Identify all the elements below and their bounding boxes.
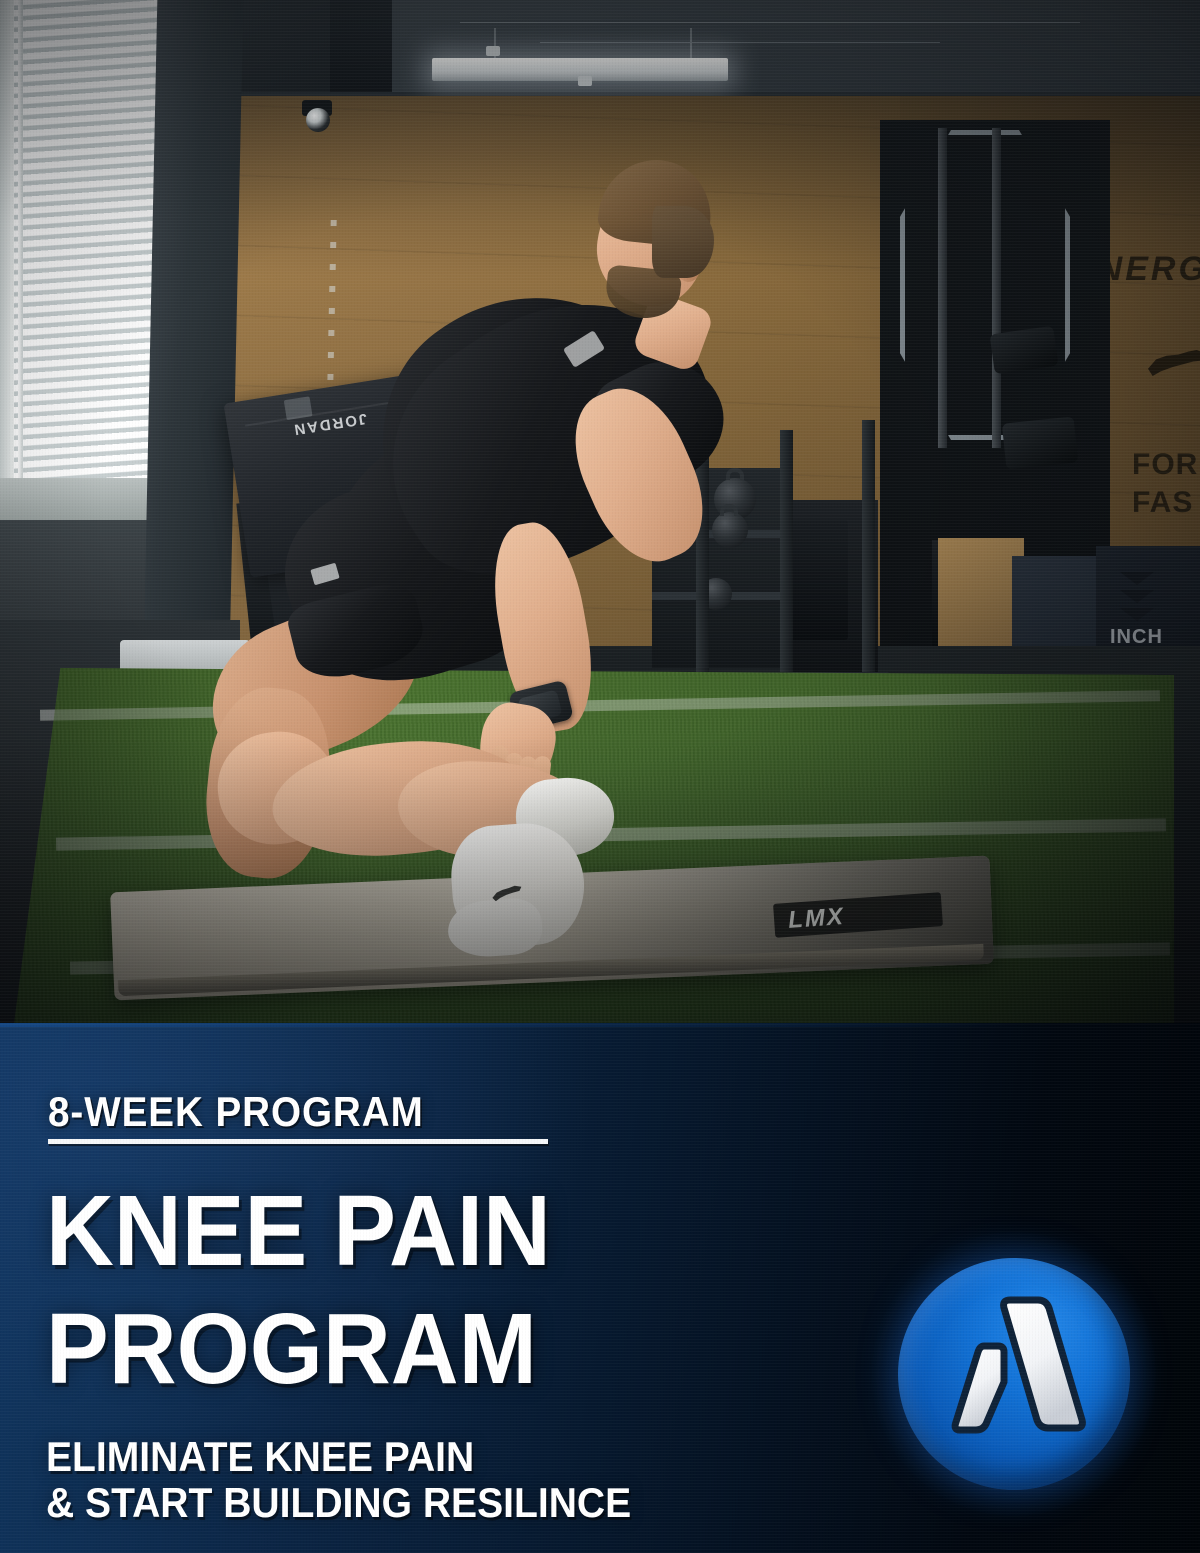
page-title-line-1: KNEE PAIN <box>46 1182 551 1280</box>
poster: ENERGY FOR FAS INCH 20 <box>0 0 1200 1553</box>
subtitle-line-1: ELIMINATE KNEE PAIN <box>46 1436 474 1478</box>
page-title-line-2: PROGRAM <box>46 1300 537 1398</box>
hero-photo: ENERGY FOR FAS INCH 20 <box>0 0 1200 1023</box>
panel-top-highlight <box>0 1023 1200 1027</box>
eyebrow-underline <box>48 1139 548 1144</box>
subtitle-line-2: & START BUILDING RESILINCE <box>46 1482 631 1524</box>
program-duration-eyebrow: 8-WEEK PROGRAM <box>48 1088 424 1136</box>
brand-logo <box>898 1258 1130 1490</box>
logo-a-mark-icon <box>898 1258 1130 1490</box>
mat-brand-label: LMX <box>787 903 845 935</box>
hair-fade <box>652 206 714 278</box>
person-subject <box>0 0 1200 1023</box>
